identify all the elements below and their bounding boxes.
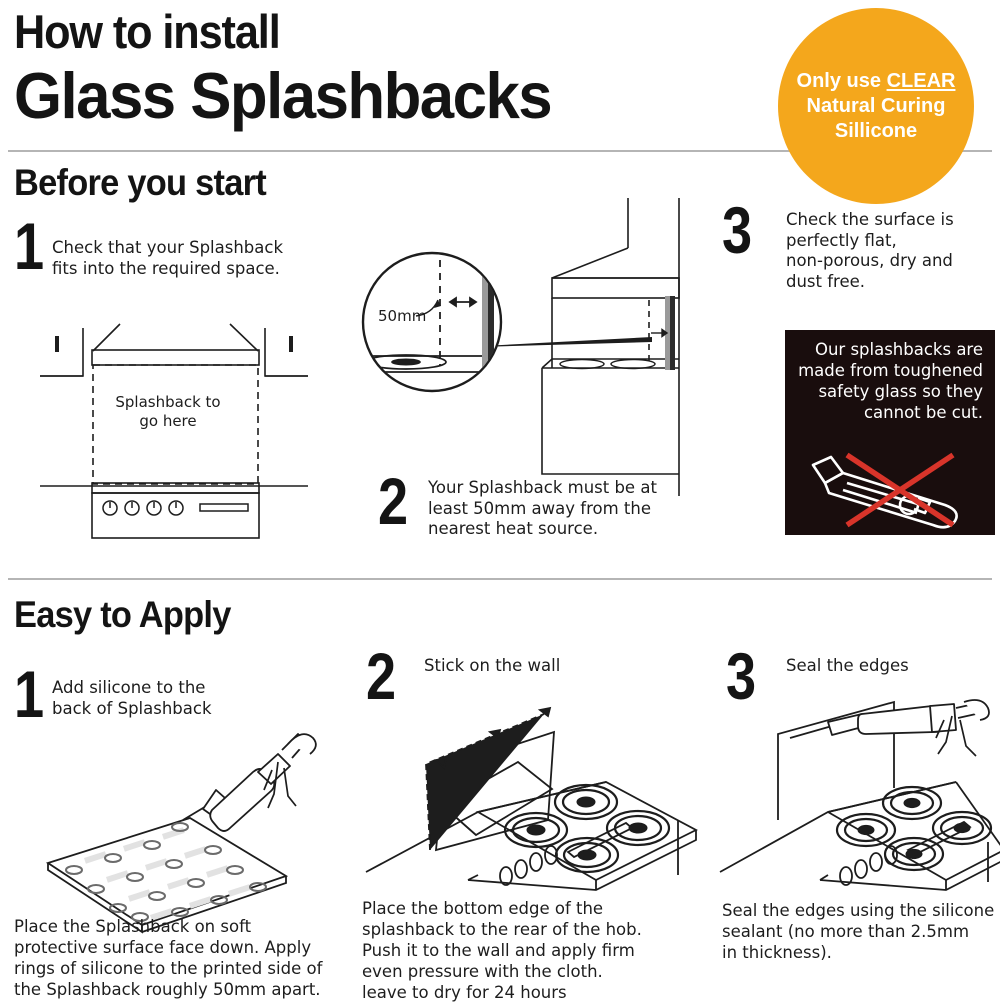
caption-eta-1: Place the Splashback on soft protective … — [14, 916, 344, 1000]
divider-middle — [8, 578, 992, 580]
step-text-bys-3: Check the surface is perfectly flat, non… — [786, 210, 1000, 292]
caption-eta-2: Place the bottom edge of the splashback … — [362, 898, 682, 1003]
section-heading-easy-to-apply: Easy to Apply — [14, 594, 231, 636]
diagram-seal-the-edges — [716, 690, 1000, 890]
diagram-label-splashback-area: Splashback to go here — [103, 393, 233, 431]
warning-box-text: Our splashbacks are made from toughened … — [795, 339, 983, 423]
step-title-eta-2: Stick on the wall — [424, 656, 674, 677]
clear-silicone-badge: Only use CLEAR Natural Curing Sillicone — [778, 8, 974, 204]
badge-line3: Sillicone — [835, 119, 917, 144]
step-number-bys-2: 2 — [378, 473, 408, 530]
diagram-stick-on-wall — [358, 690, 698, 890]
badge-line1: Only use CLEAR — [797, 69, 956, 94]
page-title-line2: Glass Splashbacks — [14, 58, 551, 133]
section-heading-before-you-start: Before you start — [14, 162, 266, 204]
instruction-sheet: How to install Glass Splashbacks Only us… — [0, 0, 1000, 1000]
diagram-apply-silicone-rings — [20, 710, 340, 910]
step-text-bys-2: Your Splashback must be at least 50mm aw… — [428, 478, 688, 540]
step-number-bys-1: 1 — [14, 218, 44, 275]
step-number-bys-3: 3 — [722, 202, 752, 259]
badge-line2: Natural Curing — [807, 94, 946, 119]
dimension-label-50mm: 50mm — [378, 307, 426, 325]
diagram-front-elevation — [30, 318, 350, 558]
page-title-line1: How to install — [14, 4, 280, 59]
step-text-bys-1: Check that your Splashback fits into the… — [52, 238, 322, 279]
caption-eta-3: Seal the edges using the silicone sealan… — [722, 900, 1000, 963]
diagram-magnifier-detail: 50mm — [358, 248, 508, 396]
warning-box-cannot-be-cut: Our splashbacks are made from toughened … — [785, 330, 995, 535]
utility-knife-crossed-out-icon — [785, 443, 995, 531]
step-title-eta-3: Seal the edges — [786, 656, 1000, 677]
